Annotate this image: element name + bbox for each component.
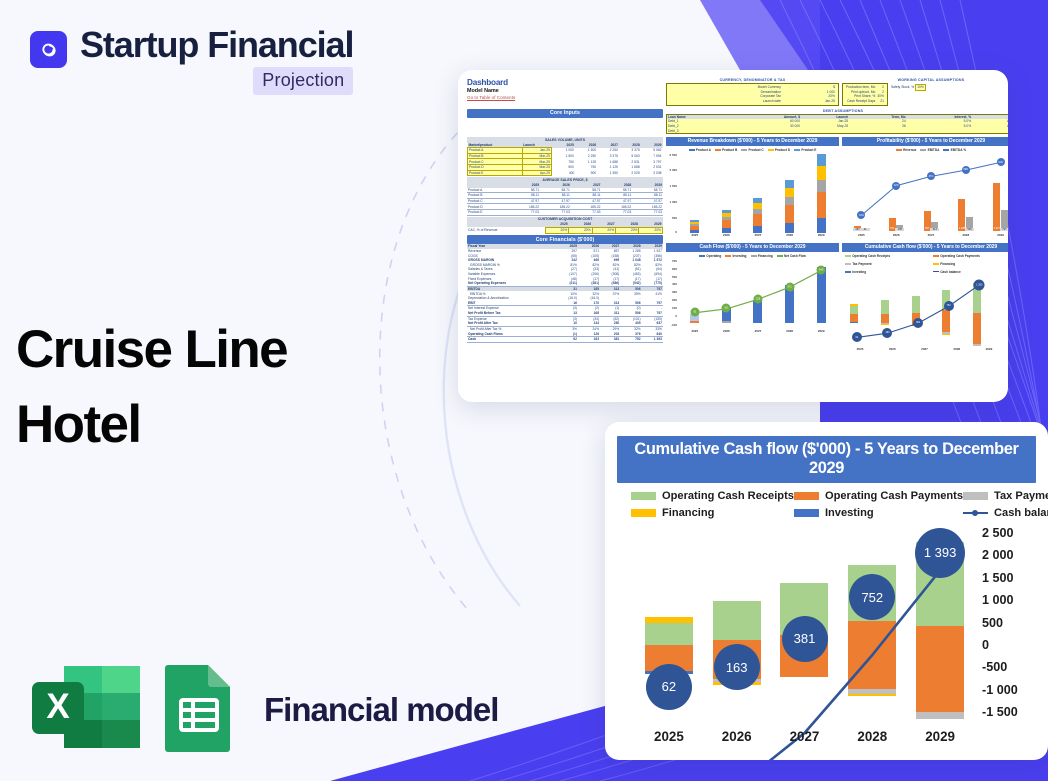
file-format-badges: X Financial model: [30, 662, 498, 757]
x-tick-2027: 2027: [771, 729, 839, 744]
cash-flow-title: Cash Flow ($'000) - 5 Years to December …: [666, 243, 839, 252]
cumulative-xaxis-mini: 2025 2026 2027 2028 2029: [844, 347, 1005, 355]
brand-subtitle: Projection: [253, 67, 353, 95]
cash-flow-xaxis: 2025 2026 2027 2028 2029: [679, 329, 837, 337]
row-value: 752: [620, 337, 641, 343]
page-title: Cruise LineHotel: [16, 312, 287, 463]
core-financials-table: Fiscal Year 20252026 20272028 2029 Reven…: [467, 244, 663, 343]
dashboard-title: Dashboard: [467, 78, 663, 87]
working-capital-table: Production time, Mo2 Print upfront, Mo2 …: [845, 85, 885, 104]
google-sheets-icon: [162, 662, 236, 757]
currency-block-header: CURRENCY, DENOMINATOR & TAX: [666, 78, 839, 82]
bar-2026: [722, 210, 731, 233]
debt-block-header: DEBT ASSUMPTIONS: [666, 109, 1008, 113]
legend-item-operating-receipts: Operating Cash Receipts: [631, 490, 794, 502]
data-label-2027: 381: [782, 616, 828, 662]
data-label-2025: 62: [646, 664, 692, 710]
revenue-breakdown-yaxis: 2 500 2 000 1 500 1 000 500 0: [666, 153, 678, 241]
cumulative-yaxis-mini: 2 500 2 000 1 500 1 000 500 0 -500 -1 00…: [1007, 275, 1008, 355]
brand-name: Startup Financial: [80, 26, 353, 64]
legend-item-operating-payments: Operating Cash Payments: [794, 490, 963, 502]
row-label: Cash: [467, 337, 556, 343]
bar-2027: [753, 198, 762, 233]
cash-flow-chart: 700 600 500 400 300 200 100 0 -100: [666, 259, 839, 337]
svg-text:X: X: [46, 687, 70, 726]
chart-title: Cumulative Cash flow ($'000) - 5 Years t…: [617, 436, 1036, 483]
cac-table: 20252026 20272028 2029 CAC, % of Revenue…: [467, 222, 663, 233]
cash-flow-yaxis: 700 600 500 400 300 200 100 0 -100: [666, 259, 678, 337]
currency-table: Model Currency$ Denomination1 000 Corpor…: [669, 85, 836, 104]
bar-2029: [817, 154, 826, 233]
cumulative-cashflow-card[interactable]: Cumulative Cash flow ($'000) - 5 Years t…: [605, 422, 1048, 760]
x-tick-2029: 2029: [906, 729, 974, 744]
x-axis: 2025 2026 2027 2028 2029: [635, 729, 974, 744]
legend-item-financing: Financing: [631, 507, 794, 519]
cumulative-labels-mini: 62 163 381 752 1 393: [844, 275, 1005, 346]
table-row: Cash621633817521 393: [467, 337, 663, 343]
profitability-chart: 297 31 571 185 857 313 1 285: [842, 153, 1008, 241]
legend-swatch-orange: [794, 492, 819, 500]
x-tick-2028: 2028: [838, 729, 906, 744]
core-financials-bar: Core Financials ($'000): [467, 235, 663, 244]
swirl-logo-icon: [30, 31, 67, 68]
model-name-label: Model Name: [467, 88, 663, 94]
legend-item-investing: Investing: [794, 507, 963, 519]
revenue-breakdown-chart: 2 500 2 000 1 500 1 000 500 0: [666, 153, 839, 241]
chart-legend: Operating Cash Receipts Operating Cash P…: [617, 483, 1036, 519]
legend-swatch-blue: [794, 509, 819, 517]
brand-logo: Startup Financial Projection: [30, 26, 353, 95]
cash-flow-labels: 62 101 218 371 640: [679, 259, 837, 323]
debt-table: Loan Name Amount, $ Launch Term, Mo Inte…: [666, 114, 1008, 135]
revenue-breakdown-title: Revenue Breakdown ($'000) - 5 Years to D…: [666, 137, 839, 146]
safety-stock-row: Safety Stock, % 10%: [890, 84, 926, 91]
legend-swatch-green: [631, 492, 656, 500]
chart-plot-area: 2 500 2 000 1 500 1 000 500 0 -500 -1 00…: [617, 533, 1036, 750]
cash-flow-legend: Operating Investing Financing Net Cash F…: [666, 252, 839, 259]
y-axis: 2 500 2 000 1 500 1 000 500 0 -500 -1 00…: [976, 533, 1036, 712]
row-value: 62: [556, 337, 578, 343]
bar-2028: [785, 180, 794, 233]
avg-price-table: 20252026 20272028 2029 Product A58.7158.…: [467, 183, 663, 216]
excel-file-icon: X: [30, 664, 142, 755]
cumulative-title-mini: Cumulative Cash flow ($'000) - 5 Years t…: [842, 243, 1008, 252]
profitability-xaxis: 2025 2026 2027 2028 2029: [844, 233, 1008, 241]
legend-swatch-grey: [963, 492, 988, 500]
data-label-group: 62 163 381 752 1 393: [635, 533, 974, 712]
data-label-2028: 752: [849, 574, 895, 620]
wc-block-header: WORKING CAPITAL ASSUMPTIONS: [842, 78, 1008, 82]
row-value: 381: [600, 337, 620, 343]
dashboard-preview-card[interactable]: Dashboard Model Name Go to Table of Cont…: [458, 70, 1008, 402]
revenue-breakdown-legend: Product A Product B Product C Product D …: [666, 146, 839, 153]
core-inputs-bar: Core Inputs: [467, 109, 663, 118]
profitability-title: Profitability ($'000) - 5 Years to Decem…: [842, 137, 1008, 146]
legend-swatch-line-marker: [963, 509, 988, 517]
legend-swatch-yellow: [631, 509, 656, 517]
x-tick-2025: 2025: [635, 729, 703, 744]
data-label-2029: 1 393: [915, 528, 965, 578]
profitability-legend: Revenue EBITDA EBITDA %: [842, 146, 1008, 153]
badge-label: Financial model: [264, 691, 498, 729]
legend-item-tax-payment: Tax Payment: [963, 490, 1048, 502]
sales-volume-table: Market/product Launch 20252026 20272028 …: [467, 143, 663, 177]
x-tick-2026: 2026: [703, 729, 771, 744]
data-label-2026: 163: [714, 644, 760, 690]
revenue-breakdown-xaxis: 2025 2026 2027 2028 2029: [679, 233, 837, 241]
profitability-pct-labels: 10% 32% 37% 39% 41%: [844, 153, 1008, 231]
toc-link[interactable]: Go to Table of Contents: [467, 95, 663, 100]
row-value: 163: [578, 337, 600, 343]
legend-item-cash-balance: Cash balance: [963, 507, 1048, 519]
cumulative-chart-mini: 2 500 2 000 1 500 1 000 500 0 -500 -1 00…: [842, 275, 1008, 355]
bar-2025: [690, 220, 699, 233]
row-value: 1 393: [642, 337, 663, 343]
cumulative-legend-mini: Operating Cash Receipts Operating Cash P…: [842, 252, 1008, 275]
